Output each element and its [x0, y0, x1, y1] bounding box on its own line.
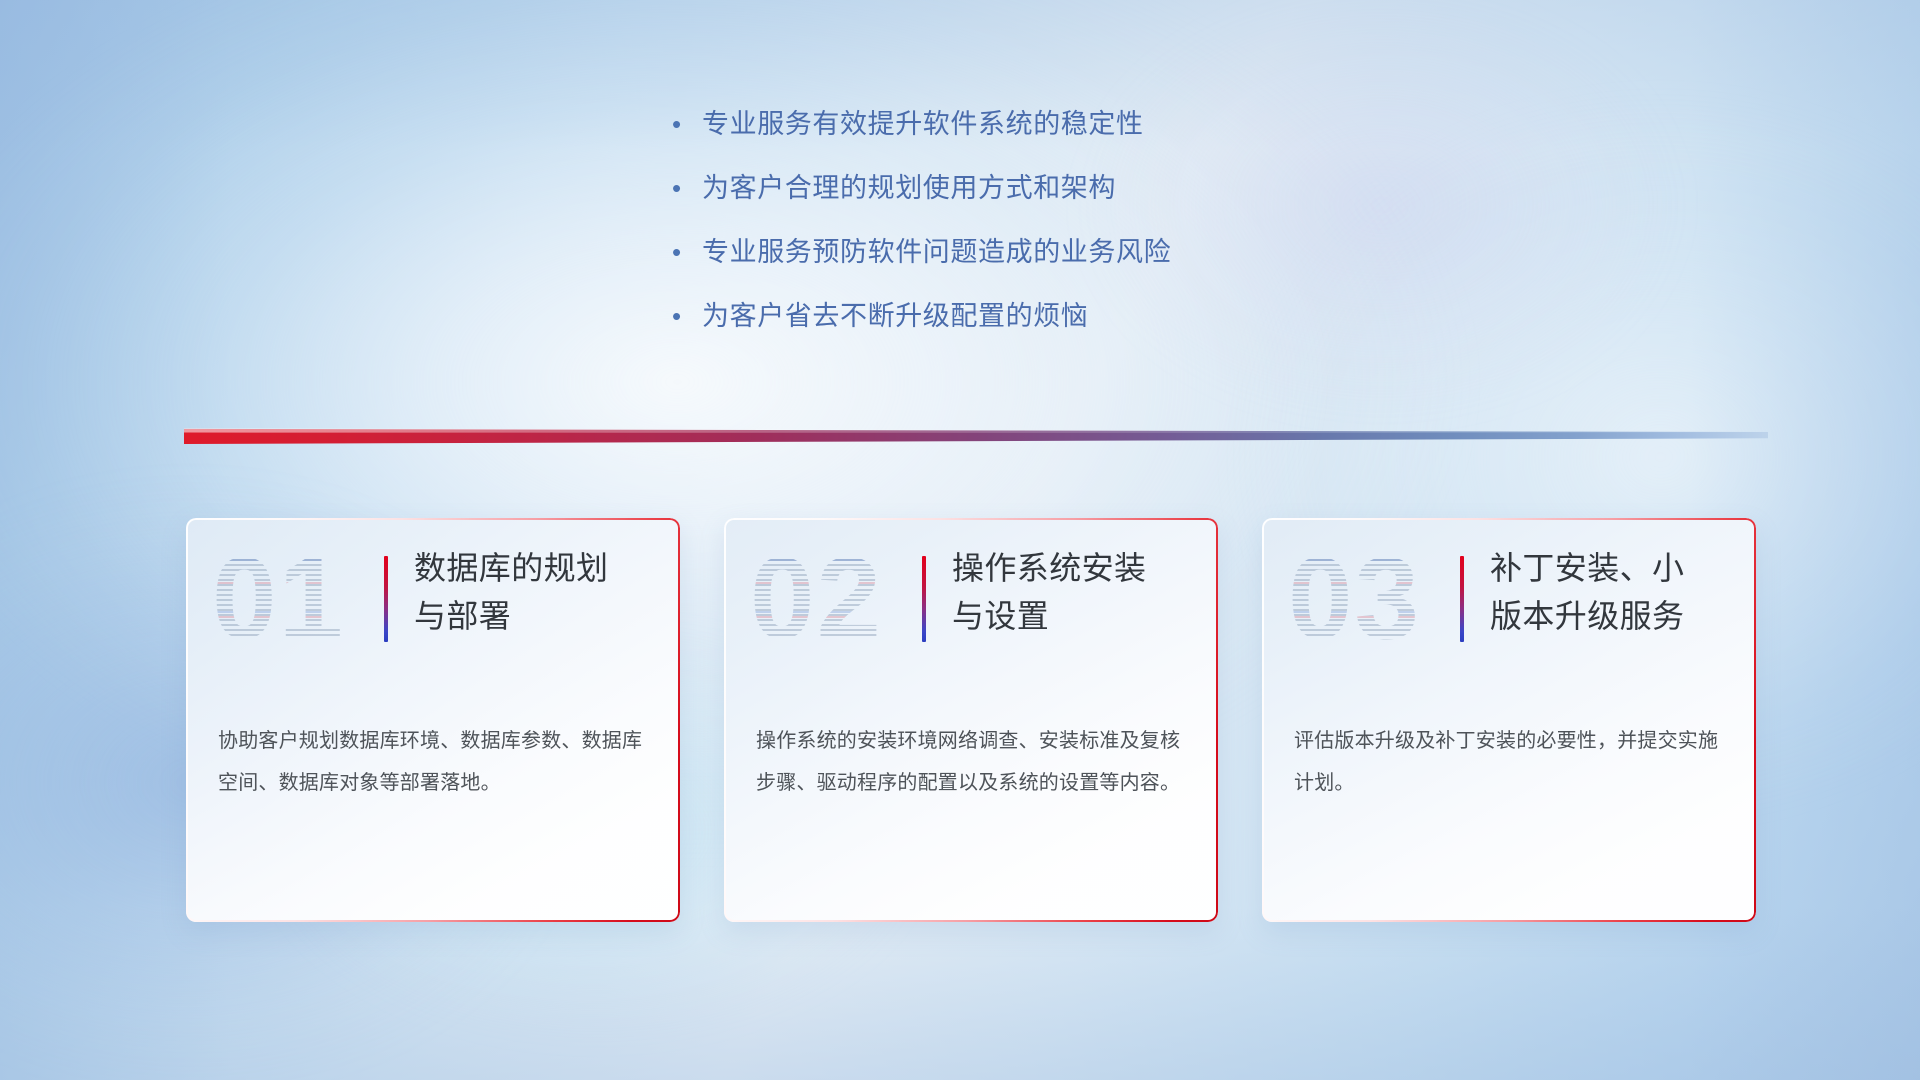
card-title: 补丁安装、小 版本升级服务	[1490, 544, 1742, 640]
bullet-dot-icon: •	[668, 104, 702, 144]
service-card[interactable]: 03 03 03 补丁安装、小 版本升级服务 评估版本升级及补丁安装的必要性，并…	[1262, 518, 1756, 922]
bullet-item-label: 专业服务有效提升软件系统的稳定性	[702, 104, 1144, 144]
card-number-watermark-blue: 02	[750, 534, 896, 662]
card-description: 操作系统的安装环境网络调查、安装标准及复核步骤、驱动程序的配置以及系统的设置等内…	[756, 720, 1190, 804]
card-title-line2: 版本升级服务	[1490, 592, 1742, 640]
card-accent-bar	[1460, 556, 1464, 642]
bullet-item: • 为客户合理的规划使用方式和架构	[668, 168, 1428, 232]
card-accent-bar	[384, 556, 388, 642]
bullet-dot-icon: •	[668, 296, 702, 336]
card-title-line1: 操作系统安装	[952, 544, 1204, 592]
bullet-dot-icon: •	[668, 168, 702, 208]
bullet-item-label: 为客户合理的规划使用方式和架构	[702, 168, 1116, 208]
card-header: 01 01 01 数据库的规划 与部署	[186, 518, 680, 676]
card-description: 评估版本升级及补丁安装的必要性，并提交实施计划。	[1294, 720, 1728, 804]
card-accent-bar	[922, 556, 926, 642]
service-card[interactable]: 01 01 01 数据库的规划 与部署 协助客户规划数据库环境、数据库参数、数据…	[186, 518, 680, 922]
section-divider	[184, 418, 1768, 444]
card-title-line1: 数据库的规划	[414, 544, 666, 592]
card-header: 03 03 03 补丁安装、小 版本升级服务	[1262, 518, 1756, 676]
service-card[interactable]: 02 02 02 操作系统安装 与设置 操作系统的安装环境网络调查、安装标准及复…	[724, 518, 1218, 922]
card-number-watermark-blue: 03	[1288, 534, 1434, 662]
card-description: 协助客户规划数据库环境、数据库参数、数据库空间、数据库对象等部署落地。	[218, 720, 652, 804]
card-header: 02 02 02 操作系统安装 与设置	[724, 518, 1218, 676]
card-title-line2: 与部署	[414, 592, 666, 640]
bullet-item: • 专业服务预防软件问题造成的业务风险	[668, 232, 1428, 296]
card-number-watermark-blue: 01	[212, 534, 358, 662]
bullet-item-label: 为客户省去不断升级配置的烦恼	[702, 296, 1088, 336]
bullet-item: • 专业服务有效提升软件系统的稳定性	[668, 104, 1428, 168]
bullet-item-label: 专业服务预防软件问题造成的业务风险	[702, 232, 1171, 272]
card-title: 数据库的规划 与部署	[414, 544, 666, 640]
card-title-line2: 与设置	[952, 592, 1204, 640]
bullet-dot-icon: •	[668, 232, 702, 272]
card-title-line1: 补丁安装、小	[1490, 544, 1742, 592]
service-card-group: 01 01 01 数据库的规划 与部署 协助客户规划数据库环境、数据库参数、数据…	[186, 518, 1756, 922]
card-title: 操作系统安装 与设置	[952, 544, 1204, 640]
benefits-bullet-list: • 专业服务有效提升软件系统的稳定性 • 为客户合理的规划使用方式和架构 • 专…	[668, 104, 1428, 360]
bullet-item: • 为客户省去不断升级配置的烦恼	[668, 296, 1428, 360]
